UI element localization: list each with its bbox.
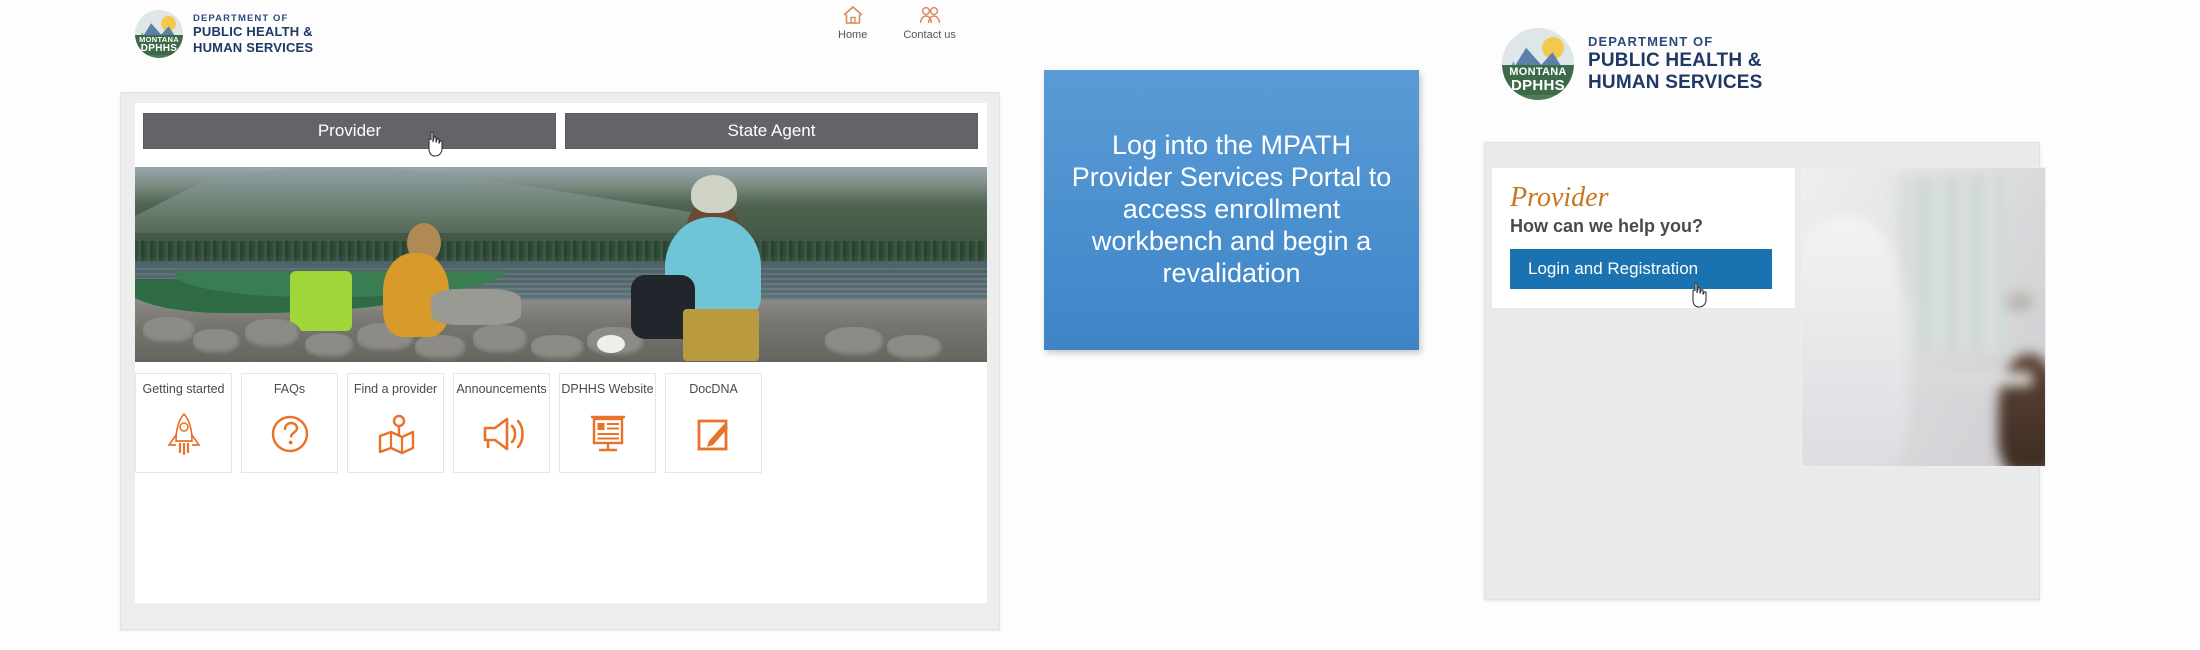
screen-root: MONTANA DPHHS DEPARTMENT OF PUBLIC HEALT… <box>0 0 2200 650</box>
card-find-a-provider-label: Find a provider <box>354 382 437 396</box>
callout-text: Log into the MPATH Provider Services Por… <box>1060 130 1403 289</box>
provider-card-subtitle: How can we help you? <box>1510 216 1777 237</box>
home-icon <box>841 4 865 26</box>
card-docdna-label: DocDNA <box>689 382 738 396</box>
tab-provider[interactable]: Provider <box>143 113 556 149</box>
nav-item-home-label: Home <box>838 29 867 41</box>
card-getting-started-label: Getting started <box>143 382 225 396</box>
logo-title-line2-right: HUMAN SERVICES <box>1588 72 1763 94</box>
logo-dept-line: DEPARTMENT OF <box>193 13 313 24</box>
dphhs-logo-right: MONTANA DPHHS DEPARTMENT OF PUBLIC HEALT… <box>1502 28 1763 100</box>
map-pin-icon <box>372 412 420 456</box>
provider-card-title: Provider <box>1510 184 1777 212</box>
provider-help-card: Provider How can we help you? Login and … <box>1491 167 1796 309</box>
provider-portal-panel: Provider State Agent <box>120 92 1000 630</box>
tab-state-agent-label: State Agent <box>728 121 816 141</box>
quick-link-cards: Getting started FAQs <box>135 373 987 493</box>
montana-dphhs-mark-icon: MONTANA DPHHS <box>135 10 183 58</box>
logo-badge-line2-right: DPHHS <box>1511 78 1565 93</box>
nav-item-contact-us-label: Contact us <box>903 29 956 41</box>
nav-item-home[interactable]: Home <box>838 4 867 41</box>
montana-dphhs-mark-icon-right: MONTANA DPHHS <box>1502 28 1574 100</box>
card-getting-started[interactable]: Getting started <box>135 373 232 473</box>
logo-title-line2: HUMAN SERVICES <box>193 40 313 55</box>
login-and-registration-label: Login and Registration <box>1528 259 1698 279</box>
card-faqs-label: FAQs <box>274 382 305 396</box>
card-announcements[interactable]: Announcements <box>453 373 550 473</box>
megaphone-icon <box>477 414 527 454</box>
tab-state-agent[interactable]: State Agent <box>565 113 978 149</box>
monitor-icon <box>586 412 630 456</box>
contact-us-icon <box>917 4 943 26</box>
card-announcements-label: Announcements <box>456 382 546 396</box>
portal-tab-bar: Provider State Agent <box>143 113 979 149</box>
card-docdna[interactable]: DocDNA <box>665 373 762 473</box>
logo-badge-line2: DPHHS <box>141 44 178 54</box>
document-edit-icon <box>693 413 735 455</box>
right-portal-panel: Provider How can we help you? Login and … <box>1484 142 2040 600</box>
dphhs-logo-left: MONTANA DPHHS DEPARTMENT OF PUBLIC HEALT… <box>135 10 313 58</box>
logo-title-line1: PUBLIC HEALTH & <box>193 24 313 39</box>
card-dphhs-website[interactable]: DPHHS Website <box>559 373 656 473</box>
nav-item-contact-us[interactable]: Contact us <box>903 4 956 41</box>
callout-box: Log into the MPATH Provider Services Por… <box>1044 70 1419 350</box>
card-find-a-provider[interactable]: Find a provider <box>347 373 444 473</box>
tab-provider-label: Provider <box>318 121 381 141</box>
logo-dept-line-right: DEPARTMENT OF <box>1588 34 1763 49</box>
hero-photo <box>135 167 987 362</box>
question-circle-icon <box>268 412 312 456</box>
right-panel-photo <box>1801 167 2046 467</box>
top-navigation: Home Contact us <box>838 4 956 41</box>
logo-title-line1-right: PUBLIC HEALTH & <box>1588 50 1763 72</box>
login-and-registration-button[interactable]: Login and Registration <box>1510 249 1772 289</box>
card-dphhs-website-label: DPHHS Website <box>561 382 653 396</box>
rocket-icon <box>164 411 204 457</box>
card-faqs[interactable]: FAQs <box>241 373 338 473</box>
